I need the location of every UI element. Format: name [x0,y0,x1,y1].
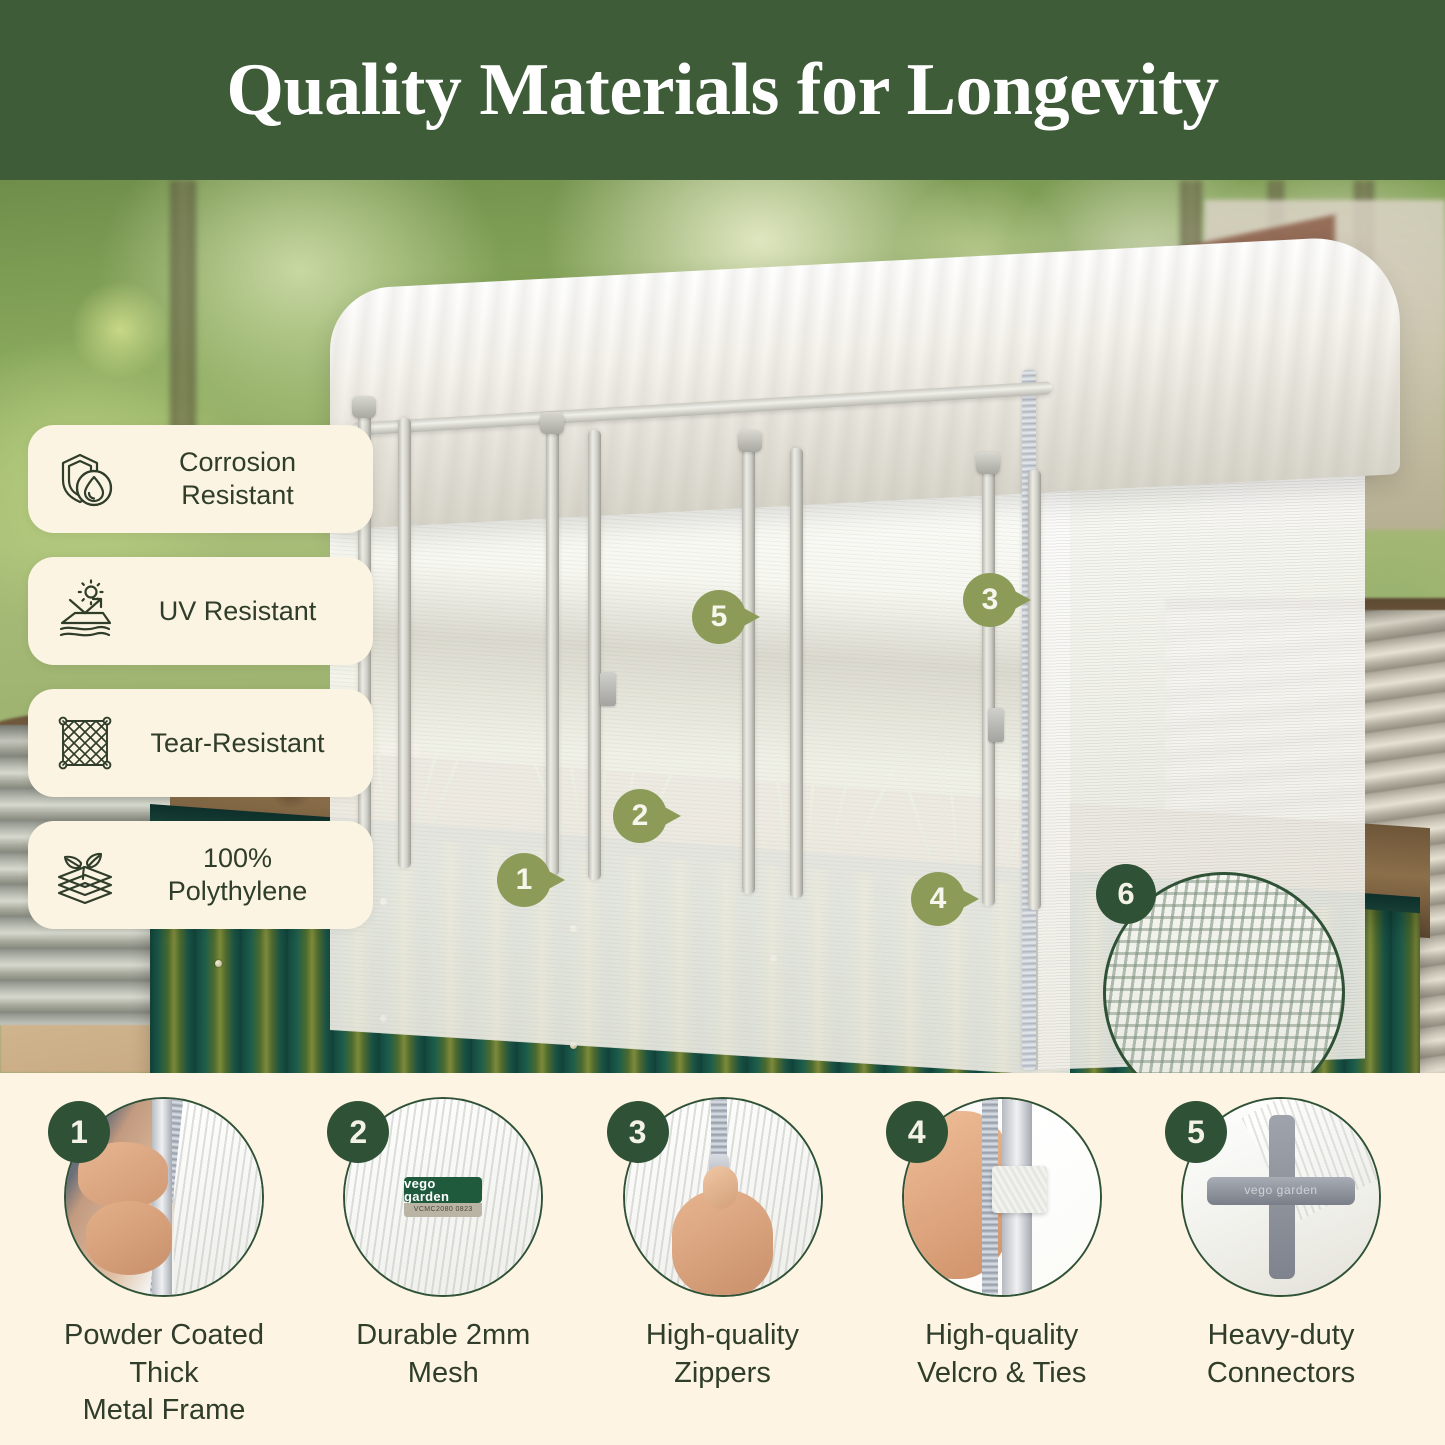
photo-marker-5[interactable]: 5 [692,590,746,644]
vego-code-text: VCMC2080 0823 [414,1206,473,1213]
bed-rivet [215,960,222,967]
shield-droplet-icon [48,442,122,516]
photo-marker-3[interactable]: 3 [963,573,1017,627]
bottom-photo-wrap: 3 [623,1097,823,1297]
bottom-badge-2: 2 [327,1101,389,1163]
feature-card-corrosion-resistant[interactable]: Corrosion Resistant [28,425,373,533]
feature-label-line-1: Corrosion [179,447,296,477]
frame-connector [352,396,376,418]
feature-card-label: Tear-Resistant [122,727,359,760]
connector-brand-text: vego garden [1183,1183,1379,1197]
frame-pole [588,430,601,880]
frame-pole [790,448,803,898]
feature-card-label: UV Resistant [122,595,359,628]
marker-number: 4 [930,884,947,914]
velcro-tab [600,672,616,706]
caption-line-1: High-quality [646,1319,799,1351]
feature-label-line-1: 100% [203,843,272,873]
bottom-photo-wrap: vego garden VCMC2080 0823 2 [343,1097,543,1297]
leaf-layers-icon [48,838,122,912]
bottom-item-durable-mesh[interactable]: vego garden VCMC2080 0823 2 Durable 2mm … [305,1097,581,1392]
caption-line-2: Mesh [408,1357,479,1389]
marker-number: 2 [632,801,649,831]
caption-line-2: Zippers [674,1357,771,1389]
frame-pole [398,418,411,868]
finger [703,1166,738,1209]
bottom-item-caption: Powder Coated Thick Metal Frame [26,1317,302,1430]
vego-brand-text: vego garden [404,1177,482,1203]
marker-tail-icon [959,888,979,910]
frame-pole [546,426,559,876]
velcro-strap [992,1166,1047,1213]
caption-line-1: Heavy-duty [1208,1319,1355,1351]
feature-card-label: 100% Polythylene [122,842,359,908]
feature-card-label: Corrosion Resistant [122,446,359,512]
bottom-badge-3: 3 [607,1101,669,1163]
feature-card-uv-resistant[interactable]: UV Resistant [28,557,373,665]
marker-tail-icon [545,869,565,891]
photo-marker-2[interactable]: 2 [613,789,667,843]
marker-tail-icon [1011,589,1031,611]
caption-line-2: Connectors [1207,1357,1355,1389]
mesh-detail-badge[interactable]: 6 [1096,864,1156,924]
frame-connector [540,412,564,434]
feature-card-tear-resistant[interactable]: Tear-Resistant [28,689,373,797]
bottom-badge-4: 4 [886,1101,948,1163]
bottom-item-zippers[interactable]: 3 High-quality Zippers [585,1097,861,1392]
mesh-badge-number: 6 [1117,876,1134,912]
bottom-item-connectors[interactable]: vego garden 5 Heavy-duty Connectors [1143,1097,1419,1392]
marker-tail-icon [740,606,760,628]
bottom-item-powder-coated-frame[interactable]: 1 Powder Coated Thick Metal Frame [26,1097,302,1430]
caption-line-2: Metal Frame [83,1394,246,1426]
marker-number: 3 [982,585,999,615]
bottom-item-velcro-ties[interactable]: 4 High-quality Velcro & Ties [864,1097,1140,1392]
frame-pole [1028,470,1041,910]
page-title: Quality Materials for Longevity [226,53,1218,127]
bottom-badge-5: 5 [1165,1101,1227,1163]
hand [86,1201,172,1275]
feature-card-list: Corrosion Resistant UV Resistant [28,425,373,929]
vego-label-code: VCMC2080 0823 [404,1203,482,1217]
header-banner: Quality Materials for Longevity [0,0,1445,180]
bottom-photo-wrap: vego garden 5 [1181,1097,1381,1297]
bottom-badge-number: 5 [1187,1116,1205,1148]
feature-label-line-2: Polythylene [168,876,308,906]
marker-number: 5 [711,602,728,632]
marker-tail-icon [661,805,681,827]
bottom-photo-wrap: 4 [902,1097,1102,1297]
frame-pole [742,444,755,894]
bottom-item-caption: Heavy-duty Connectors [1207,1317,1355,1392]
bottom-badge-number: 2 [349,1116,367,1148]
caption-line-1: Powder Coated Thick [64,1319,264,1389]
bottom-item-caption: High-quality Zippers [646,1317,799,1392]
frame-connector [976,452,1000,474]
caption-line-1: Durable 2mm [356,1319,530,1351]
bottom-badge-1: 1 [48,1101,110,1163]
bottom-item-caption: Durable 2mm Mesh [356,1317,530,1392]
bottom-badge-number: 4 [908,1116,926,1148]
feature-label-line-1: Tear-Resistant [150,728,324,758]
caption-line-1: High-quality [925,1319,1078,1351]
bottom-photo-wrap: 1 [64,1097,264,1297]
feature-label-line-1: UV Resistant [159,596,317,626]
sun-uv-layers-icon [48,574,122,648]
bottom-feature-strip: 1 Powder Coated Thick Metal Frame vego g… [0,1073,1445,1445]
hero-product-photo: 1 2 3 4 5 6 0.04" x 0.1" Cross-Woven ilr… [0,180,1445,1073]
frame-pole [982,466,995,906]
bottom-item-caption: High-quality Velcro & Ties [917,1317,1086,1392]
mesh-net-icon [48,706,122,780]
feature-label-line-2: Resistant [181,480,294,510]
frame-connector [738,430,762,452]
fabric-texture [174,1099,262,1295]
vego-garden-label: vego garden [404,1177,482,1202]
bottom-badge-number: 3 [629,1116,647,1148]
marker-number: 1 [516,865,533,895]
photo-marker-4[interactable]: 4 [911,872,965,926]
velcro-tab [988,708,1004,742]
feature-card-polythylene[interactable]: 100% Polythylene [28,821,373,929]
caption-line-2: Velcro & Ties [917,1357,1086,1389]
bottom-badge-number: 1 [70,1116,88,1148]
photo-marker-1[interactable]: 1 [497,853,551,907]
